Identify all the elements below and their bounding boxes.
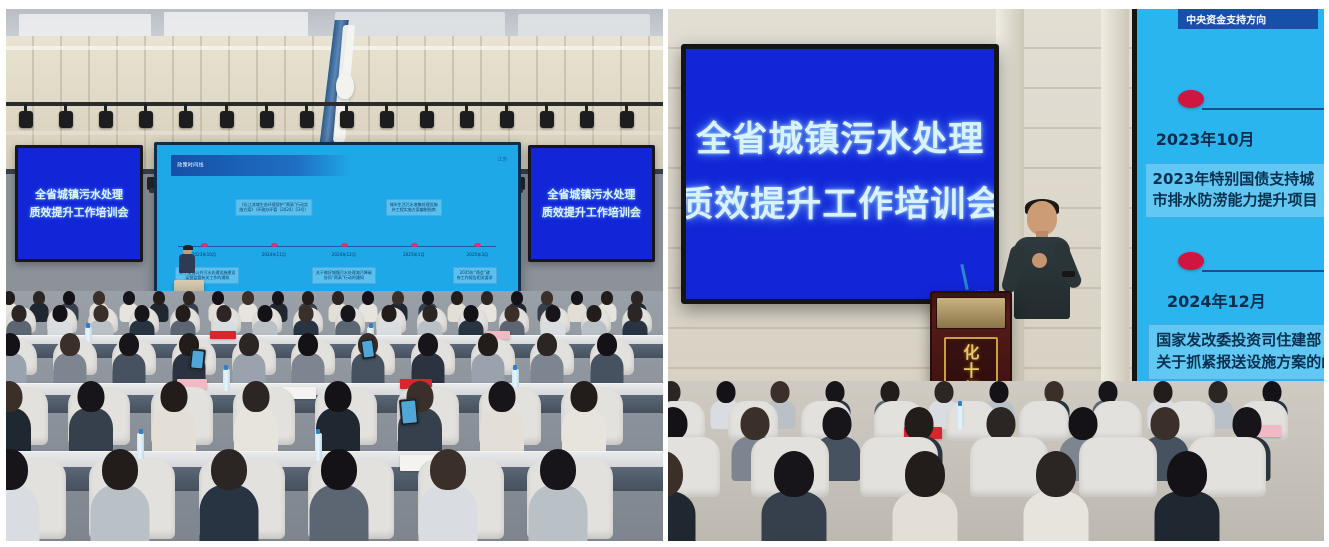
audience-head xyxy=(381,305,396,322)
audience-member xyxy=(88,305,114,339)
stage-light-icon xyxy=(380,111,394,128)
audience-head xyxy=(716,381,735,403)
audience-member xyxy=(479,381,525,451)
left-photo-conference-hall: 政策时间线 江苏 2023年10月关于加强公共污水处理设施建设运营监管有关工作的… xyxy=(6,9,663,541)
audience-head xyxy=(627,305,642,322)
audience-torso xyxy=(6,485,40,541)
audience-head xyxy=(1153,381,1172,403)
phone-screen xyxy=(401,400,417,423)
timeline-date: 2024年11月 xyxy=(262,252,286,258)
timeline-node-dot xyxy=(1178,252,1204,270)
side-screen-left-line1: 全省城镇污水处理 xyxy=(35,186,123,203)
audience-head xyxy=(586,305,601,322)
timeline-date: 2024年12月 xyxy=(332,252,356,258)
audience-member xyxy=(418,449,479,541)
audience-torso xyxy=(1155,491,1220,541)
timeline-caption-line: 施方案》（环政办环管〔2024〕53号） xyxy=(239,207,308,213)
slide-logo: 江苏 xyxy=(497,156,507,163)
side-screen-right-line2: 质效提升工作培训会 xyxy=(542,204,641,221)
audience-head xyxy=(989,381,1008,403)
lectern-char-1: 化 xyxy=(963,345,979,361)
audience-head xyxy=(422,305,437,322)
stage-light-icon xyxy=(460,111,474,128)
timeline-node-dot xyxy=(201,243,208,247)
audience-head xyxy=(298,333,318,356)
stage-light-icon xyxy=(340,111,354,128)
audience-torso xyxy=(893,491,958,541)
audience-head xyxy=(422,291,434,305)
audience-head xyxy=(1150,407,1179,440)
timeline-date-2: 2024年12月 xyxy=(1167,288,1266,312)
audience-head xyxy=(6,449,28,490)
audience-head xyxy=(1099,381,1118,403)
audience-head xyxy=(94,305,109,322)
audience-head xyxy=(12,305,27,322)
audience-head xyxy=(418,333,438,356)
stage-light-icon xyxy=(620,111,634,128)
audience-torso xyxy=(1024,491,1089,541)
audience-head xyxy=(740,407,769,440)
timeline-date: 2025年1月 xyxy=(403,252,425,258)
title-screen-line2: 质效提升工作培训会 xyxy=(681,176,999,227)
slide-title: 政策时间线 xyxy=(177,162,204,169)
stage-light-icon xyxy=(99,111,113,128)
audience-head xyxy=(63,291,75,305)
audience-member xyxy=(622,305,648,339)
audience-head xyxy=(53,305,68,322)
side-screen-left: 全省城镇污水处理 质效提升工作培训会 xyxy=(15,145,143,263)
audience-member xyxy=(151,381,197,451)
audience-member xyxy=(199,449,260,541)
timeline-caption-line: 补工程实施方案编制指南 xyxy=(390,207,438,213)
audience-head xyxy=(6,333,20,356)
audience-head xyxy=(60,333,80,356)
phone-screen xyxy=(191,350,204,368)
audience-head xyxy=(135,305,150,322)
audience-head xyxy=(489,381,516,412)
audience-torso xyxy=(528,485,587,541)
audience-head xyxy=(825,381,844,403)
audience-member xyxy=(68,381,114,451)
audience-head xyxy=(93,291,105,305)
audience-head xyxy=(935,381,954,403)
audience-head xyxy=(1208,381,1227,403)
audience-head xyxy=(631,291,643,305)
wall-pilaster xyxy=(1101,9,1129,424)
audience-head xyxy=(176,305,191,322)
speaker-wristwatch xyxy=(1062,271,1075,277)
stage-light-icon xyxy=(220,111,234,128)
audience-head xyxy=(102,449,138,490)
audience-head xyxy=(771,381,790,403)
audience-head xyxy=(904,407,933,440)
audience-torso xyxy=(668,491,695,541)
audience-head xyxy=(668,451,683,497)
audience-head xyxy=(986,407,1015,440)
timeline-date: 2025年3月 xyxy=(467,252,489,258)
audience-head xyxy=(1232,407,1261,440)
timeline-node-dot xyxy=(411,243,418,247)
audience-member xyxy=(527,449,588,541)
timeline-caption-2-line1: 国家发改委投资司住建部 xyxy=(1156,330,1324,352)
audience-head xyxy=(123,291,135,305)
audience-head xyxy=(1263,381,1282,403)
timeline-caption-line: 府工作报告相关要求 xyxy=(457,275,493,281)
audience-head xyxy=(211,449,247,490)
audience-head xyxy=(463,305,478,322)
timeline-caption-line: 《长江流域生态环境保护“两高”行动实 xyxy=(239,202,308,208)
audience-head xyxy=(183,291,195,305)
audience-member xyxy=(561,381,607,451)
audience-head xyxy=(1068,407,1097,440)
audience-head xyxy=(392,291,404,305)
stage-light-icon xyxy=(139,111,153,128)
audience-member xyxy=(530,333,564,383)
audience-head xyxy=(340,305,355,322)
slide-header-bar: 中央资金支持方向 xyxy=(1178,9,1318,29)
audience-member xyxy=(53,333,87,383)
timeline-caption: 《长江流域生态环境保护“两高”行动实施方案》（环政办环管〔2024〕53号） xyxy=(235,199,312,217)
right-photo-speaker-closeup: 全省城镇污水处理 质效提升工作培训会 HDMI1 中央资金支持方向 2023年1… xyxy=(668,9,1324,541)
audience-head xyxy=(78,381,105,412)
presenter-body xyxy=(179,254,195,273)
audience-head xyxy=(153,291,165,305)
audience-head xyxy=(217,305,232,322)
audience-torso xyxy=(761,491,826,541)
side-screen-left-line2: 质效提升工作培训会 xyxy=(29,204,128,221)
secondary-slide-screen: 中央资金支持方向 2023年10月 2023年特别国债支持城 市排水防涝能力提升… xyxy=(1132,9,1324,413)
lectern-char-2: 十 xyxy=(963,363,979,379)
audience-member xyxy=(471,333,505,383)
main-title-screen: 全省城镇污水处理 质效提升工作培训会 HDMI1 xyxy=(681,44,999,304)
timeline-node-line xyxy=(1202,108,1324,110)
phone-screen xyxy=(362,340,374,357)
audience-head xyxy=(1167,451,1207,497)
audience-head xyxy=(668,407,687,440)
audience-head xyxy=(33,291,45,305)
audience-head xyxy=(430,449,466,490)
pendant-lamp xyxy=(336,73,354,99)
timeline-caption-1-line1: 2023年特别国债支持城 xyxy=(1153,169,1318,191)
smartphone-recording[interactable] xyxy=(189,348,206,370)
smartphone-recording[interactable] xyxy=(359,338,376,360)
audience-member xyxy=(760,451,828,531)
main-led-screen: 政策时间线 江苏 2023年10月关于加强公共污水处理设施建设运营监管有关工作的… xyxy=(154,142,521,310)
stage-light-icon xyxy=(300,111,314,128)
audience-head xyxy=(160,381,187,412)
timeline-caption-line: 关于做好城镇污水处理减污降碳 xyxy=(316,270,372,276)
audience-head xyxy=(324,381,351,412)
stage-light-icon xyxy=(260,111,274,128)
audience-head xyxy=(242,291,254,305)
stage-light-icon xyxy=(179,111,193,128)
audience-head xyxy=(119,333,139,356)
audience-head xyxy=(511,291,523,305)
audience-head xyxy=(299,305,314,322)
audience-member xyxy=(891,451,959,531)
timeline-caption-2: 国家发改委投资司住建部 关于抓紧报送设施方案的函 xyxy=(1148,324,1324,380)
audience-torso xyxy=(90,485,149,541)
timeline-node-line xyxy=(1202,270,1324,272)
audience-head xyxy=(571,291,583,305)
audience-member xyxy=(1153,451,1221,531)
audience-head xyxy=(6,291,15,305)
water-bottle xyxy=(957,405,964,429)
audience-torso xyxy=(419,485,478,541)
audience-head xyxy=(258,305,273,322)
audience-head xyxy=(668,381,680,403)
audience-head xyxy=(774,451,814,497)
audience-member xyxy=(6,381,32,451)
audience-head xyxy=(332,291,344,305)
audience-torso xyxy=(309,485,368,541)
audience-head xyxy=(478,333,498,356)
lectern-top-panel xyxy=(936,297,1006,329)
audience-member xyxy=(590,333,624,383)
audience-head xyxy=(451,291,463,305)
stage-light-icon xyxy=(540,111,554,128)
timeline-date-1: 2023年10月 xyxy=(1156,126,1255,150)
audience-member xyxy=(291,333,325,383)
timeline-caption-2-line2: 关于抓紧报送设施方案的函 xyxy=(1156,352,1324,374)
audience-head xyxy=(822,407,851,440)
timeline-node-dot xyxy=(341,243,348,247)
photo-composite: 政策时间线 江苏 2023年10月关于加强公共污水处理设施建设运营监管有关工作的… xyxy=(0,0,1329,547)
audience-head xyxy=(1044,381,1063,403)
audience-member xyxy=(232,333,266,383)
audience-head xyxy=(601,291,613,305)
timeline-node-dot xyxy=(1178,90,1204,108)
audience-head xyxy=(541,291,553,305)
audience-member xyxy=(668,451,697,531)
audience-head xyxy=(504,305,519,322)
stage-light-icon xyxy=(19,111,33,128)
side-screen-right-line1: 全省城镇污水处理 xyxy=(547,186,635,203)
audience-head xyxy=(242,381,269,412)
timeline-caption: 2025年“两会”政府工作报告相关要求 xyxy=(453,267,497,285)
audience-head xyxy=(272,291,284,305)
timeline-caption-line: 协同“两高”行动的通知 xyxy=(316,275,372,281)
audience-member xyxy=(89,449,150,541)
audience-head xyxy=(239,333,259,356)
audience-head xyxy=(597,333,617,356)
audience-seating-area xyxy=(668,381,1324,541)
audience-head xyxy=(540,449,576,490)
conference-chair xyxy=(1079,437,1157,497)
speaker-gesturing-hand xyxy=(1032,253,1047,268)
audience-head xyxy=(321,449,357,490)
audience-member xyxy=(112,333,146,383)
audience-member xyxy=(233,381,279,451)
audience-head xyxy=(537,333,557,356)
audience-head xyxy=(545,305,560,322)
audience-head xyxy=(1036,451,1076,497)
stage-light-icon xyxy=(420,111,434,128)
stage-light-icon xyxy=(580,111,594,128)
audience-member xyxy=(308,449,369,541)
audience-head xyxy=(212,291,224,305)
timeline-node-dot xyxy=(271,243,278,247)
audience-head xyxy=(362,291,374,305)
audience-torso xyxy=(200,485,259,541)
timeline-caption-1: 2023年特别国债支持城 市排水防涝能力提升项目 xyxy=(1145,163,1324,219)
water-bottle xyxy=(223,369,230,391)
presenter-at-lectern xyxy=(179,246,195,272)
audience-seating-area xyxy=(6,291,663,541)
speaker-figure xyxy=(1012,201,1076,319)
audience-head xyxy=(6,381,23,412)
speaker-head xyxy=(1027,201,1057,235)
audience-head xyxy=(481,291,493,305)
audience-member xyxy=(411,333,445,383)
audience-head xyxy=(571,381,598,412)
audience-member xyxy=(6,333,27,383)
timeline-caption-line: 2025年“两会”政 xyxy=(457,270,493,276)
timeline-caption-line: 城市生活污水收集处理设施 xyxy=(390,202,438,208)
timeline-caption: 城市生活污水收集处理设施补工程实施方案编制指南 xyxy=(386,199,442,217)
slide-title-bar: 政策时间线 xyxy=(171,155,352,176)
audience-head xyxy=(302,291,314,305)
slide-header-text: 中央资金支持方向 xyxy=(1186,12,1266,27)
stage-light-icon xyxy=(59,111,73,128)
smartphone-recording[interactable] xyxy=(399,398,419,425)
timeline-caption: 关于做好城镇污水处理减污降碳协同“两高”行动的通知 xyxy=(312,267,376,285)
side-screen-right: 全省城镇污水处理 质效提升工作培训会 xyxy=(528,145,656,263)
audience-head xyxy=(905,451,945,497)
title-screen-line1: 全省城镇污水处理 xyxy=(696,111,984,162)
audience-head xyxy=(880,381,899,403)
audience-member xyxy=(1022,451,1090,531)
timeline-caption-1-line2: 市排水防涝能力提升项目 xyxy=(1153,190,1318,212)
stage-light-icon xyxy=(500,111,514,128)
timeline-axis xyxy=(178,246,496,248)
audience-member xyxy=(6,449,41,541)
